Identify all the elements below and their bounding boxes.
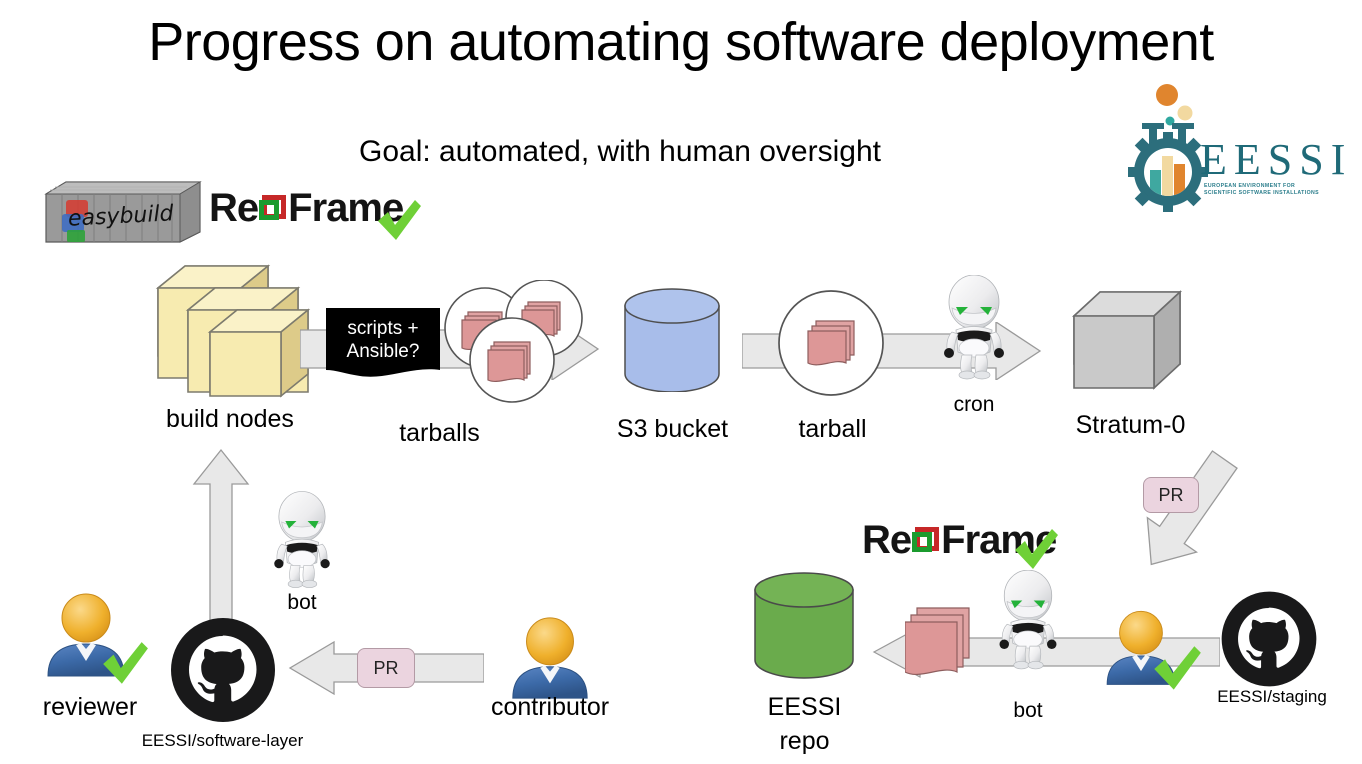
check-icon-reframe-top bbox=[375, 198, 423, 244]
staging-repo-label: EESSI/staging bbox=[1192, 686, 1352, 707]
check-icon-reframe-bottom bbox=[1012, 527, 1060, 573]
github-icon-staging[interactable] bbox=[1218, 588, 1320, 695]
bot-label-right: bot bbox=[978, 698, 1078, 723]
easybuild-container-icon: easybuild bbox=[40, 176, 205, 248]
software-layer-repo-label: EESSI/software-layer bbox=[120, 730, 325, 751]
eessi-repo-cylinder-icon bbox=[752, 572, 856, 687]
build-nodes-label: build nodes bbox=[120, 404, 340, 434]
tarballs-label: tarballs bbox=[362, 418, 517, 448]
scripts-ansible-banner: scripts + Ansible? bbox=[326, 308, 440, 376]
build-nodes-icon bbox=[150, 258, 315, 403]
bot-robot-icon-left bbox=[265, 490, 339, 595]
reframe-prefix: Re bbox=[209, 186, 258, 230]
scripts-ansible-text: scripts + Ansible? bbox=[326, 317, 440, 363]
pr-badge-contributor[interactable]: PR bbox=[357, 648, 415, 688]
cron-label: cron bbox=[918, 392, 1030, 417]
github-icon-software-layer[interactable] bbox=[167, 614, 279, 731]
contributor-label: contributor bbox=[465, 692, 635, 722]
reframe-square-icon-bottom bbox=[912, 527, 940, 555]
scripts-line2: Ansible? bbox=[326, 340, 440, 363]
s3-bucket-label: S3 bucket bbox=[590, 414, 755, 444]
reviewer-label: reviewer bbox=[10, 692, 170, 722]
eessi-wordmark: EESSI bbox=[1200, 134, 1352, 185]
eessi-repo-label-line2: repo bbox=[722, 726, 887, 756]
check-icon-reviewer bbox=[100, 640, 150, 688]
stratum0-cube-icon bbox=[1068, 288, 1188, 401]
stratum0-label: Stratum-0 bbox=[1038, 410, 1223, 440]
eessi-tagline: EUROPEAN ENVIRONMENT FOR SCIENTIFIC SOFT… bbox=[1204, 183, 1319, 197]
reframe-prefix-bottom: Re bbox=[862, 518, 911, 562]
arrow-repo-to-build-nodes bbox=[190, 448, 252, 631]
tarball-icon bbox=[776, 288, 886, 403]
s3-bucket-icon bbox=[622, 288, 722, 397]
arrow-stratum0-to-staging bbox=[1128, 442, 1248, 587]
tarballs-icon-group bbox=[440, 280, 590, 415]
tarball-docs-icon-right bbox=[905, 606, 975, 697]
scripts-line1: scripts + bbox=[326, 317, 440, 340]
eessi-tagline-line2: SCIENTIFIC SOFTWARE INSTALLATIONS bbox=[1204, 190, 1319, 197]
slide-canvas: Progress on automating software deployme… bbox=[0, 0, 1362, 764]
cron-robot-icon bbox=[934, 275, 1014, 385]
bot-robot-icon-right bbox=[990, 570, 1066, 675]
slide-subtitle: Goal: automated, with human oversight bbox=[0, 133, 1240, 171]
eessi-repo-label-line1: EESSI bbox=[722, 692, 887, 722]
reframe-square-icon bbox=[259, 195, 287, 223]
tarball-label: tarball bbox=[770, 414, 895, 444]
page-title: Progress on automating software deployme… bbox=[0, 10, 1362, 74]
eessi-tagline-line1: EUROPEAN ENVIRONMENT FOR bbox=[1204, 183, 1319, 190]
eessi-logo: EESSI EUROPEAN ENVIRONMENT FOR SCIENTIFI… bbox=[1128, 82, 1358, 212]
pr-badge-stratum0-staging[interactable]: PR bbox=[1143, 477, 1199, 513]
bot-label-left: bot bbox=[250, 590, 354, 615]
